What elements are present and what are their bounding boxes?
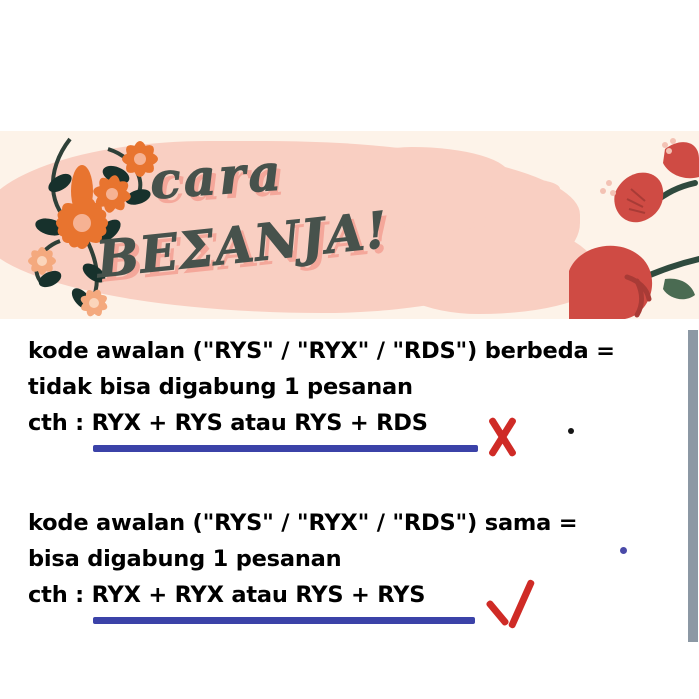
top-blank-area (0, 0, 699, 131)
brush-speck (490, 179, 560, 199)
rule-block-different: kode awalan ("RYS" / "RYX" / "RDS") berb… (28, 333, 615, 441)
rule-line-2: tidak bisa digabung 1 pesanan (28, 369, 615, 405)
bottom-blank-area (0, 642, 699, 699)
rule-example-1: cth : RYX + RYS atau RYS + RDS (28, 405, 615, 441)
rule-line-1: kode awalan ("RYS" / "RYX" / "RDS") berb… (28, 333, 615, 369)
rule-block-same: kode awalan ("RYS" / "RYX" / "RDS") sama… (28, 505, 577, 613)
example-underline-1 (93, 445, 478, 452)
blue-speck-dot (620, 547, 627, 554)
banner-title-line1: cara (148, 142, 285, 210)
screenshot-root: cara BEΣANJA! kode awalan ("RYS" / "RYX"… (0, 0, 699, 699)
brush-stroke-lower (380, 226, 600, 314)
vertical-scrollbar[interactable] (688, 330, 698, 642)
rule-line-3: kode awalan ("RYS" / "RYX" / "RDS") sama… (28, 505, 577, 541)
black-speck-dot (568, 428, 574, 434)
example-underline-2 (93, 617, 475, 624)
red-flowers-decoration (569, 131, 699, 319)
header-banner: cara BEΣANJA! (0, 131, 699, 319)
rule-example-2: cth : RYX + RYX atau RYS + RYS (28, 577, 577, 613)
rule-line-4: bisa digabung 1 pesanan (28, 541, 577, 577)
instruction-card: kode awalan ("RYS" / "RYX" / "RDS") berb… (13, 319, 688, 642)
